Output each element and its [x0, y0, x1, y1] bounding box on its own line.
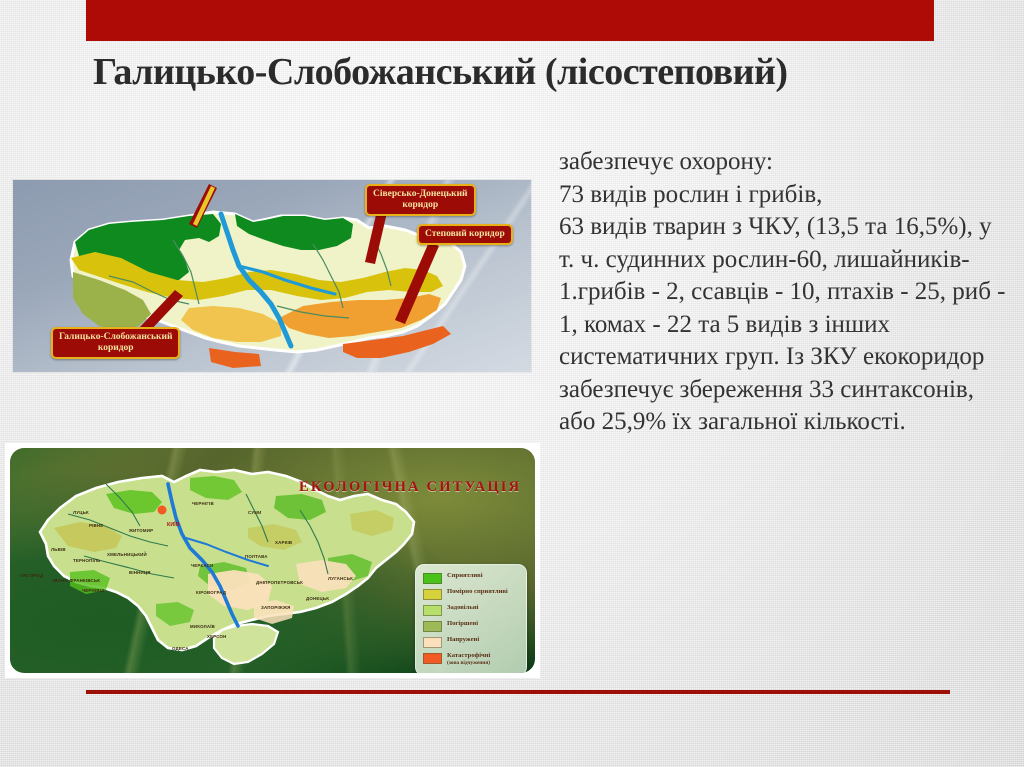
map-city-label: ЛУГАНСЬК: [328, 576, 353, 581]
map-city-label: ІВАНО-ФРАНКІВСЬК: [53, 578, 100, 583]
body-line-4: 1.грибів - 2, ссавців - 10, птахів - 25,…: [559, 276, 1011, 439]
body-text-block: забезпечує охорону: 73 видів рослин і гр…: [559, 146, 1011, 439]
legend-item: Помірно сприятливі: [423, 588, 520, 600]
page-title: Галицько-Слобожанський (лісостеповий): [93, 49, 993, 95]
legend-item: Катастрофічні(зона відчуження): [423, 652, 520, 667]
body-line-1: забезпечує охорону:: [559, 146, 1011, 179]
legend-item: Сприятливі: [423, 572, 520, 584]
map-city-label: ЖИТОМИР: [129, 528, 153, 533]
body-line-3: 63 видів тварин з ЧКУ, (13,5 та 16,5%), …: [559, 211, 1011, 276]
legend-swatch-strained: [423, 637, 442, 648]
legend-label: Сприятливі: [447, 572, 483, 580]
map-label-siversko-donetsky: Сіверсько-Донецький коридор: [365, 184, 476, 216]
header-accent-bar: [86, 0, 934, 41]
map-city-label: ЛЬВІВ: [51, 547, 66, 552]
legend-item: Погіршені: [423, 620, 520, 632]
map-ecology-legend: Сприятливі Помірно сприятливі Задовільні…: [415, 564, 527, 673]
map-city-label: ЧЕРНІГІВ: [192, 501, 214, 506]
legend-label: Погіршені: [447, 620, 478, 628]
body-line-2: 73 видів рослин і грибів,: [559, 179, 1011, 212]
map-city-label: ЧЕРНІВЦІ: [82, 588, 105, 593]
legend-swatch-satisfactory: [423, 605, 442, 616]
map-city-label: ПОЛТАВА: [245, 554, 268, 559]
map-ecology-title: ЕКОЛОГІЧНА СИТУАЦІЯ: [299, 479, 521, 496]
map-city-label: ЛУЦЬК: [73, 510, 89, 515]
map-city-label: СУМИ: [248, 510, 261, 515]
legend-label: Задовільні: [447, 604, 478, 612]
map-city-label: ТЕРНОПІЛЬ: [73, 558, 101, 563]
map-city-label: ДОНЕЦЬК: [306, 596, 329, 601]
map-city-label: ХЕРСОН: [207, 634, 227, 639]
legend-sublabel: (зона відчуження): [447, 660, 490, 668]
legend-swatch-catastrophic: [423, 653, 442, 664]
legend-swatch-moderately-favourable: [423, 589, 442, 600]
map-city-label: ЧЕРКАСИ: [191, 563, 213, 568]
legend-item: Задовільні: [423, 604, 520, 616]
map-city-label: КИЇВ: [167, 522, 180, 528]
map-city-label: РІВНЕ: [89, 523, 103, 528]
map-eco-corridors: Сіверсько-Донецький коридор Степовий кор…: [13, 180, 531, 372]
map-city-label: ДНІПРОПЕТРОВСЬК: [256, 580, 303, 585]
legend-label: Помірно сприятливі: [447, 588, 508, 596]
legend-item: Напружені: [423, 636, 520, 648]
map-city-label: УЖГОРОД: [20, 573, 43, 578]
legend-label: Напружені: [447, 636, 479, 644]
map-city-label: ХАРКІВ: [275, 540, 292, 545]
map-ecological-situation: ЕКОЛОГІЧНА СИТУАЦІЯ Сприятливі Помірно с…: [5, 443, 540, 678]
legend-label: Катастрофічні(зона відчуження): [447, 652, 490, 667]
slide-canvas: Галицько-Слобожанський (лісостеповий): [0, 0, 1024, 767]
map-label-halytsko-slobozhanskyi: Галицько-Слобожанський коридор: [51, 327, 180, 359]
map-label-stepovyi: Степовий коридор: [417, 224, 513, 245]
footer-rule: [86, 690, 950, 694]
legend-swatch-favourable: [423, 573, 442, 584]
map-city-label: ОДЕСА: [172, 646, 189, 651]
legend-swatch-degraded: [423, 621, 442, 632]
map-city-label: КІРОВОГРАД: [196, 590, 226, 595]
map-city-label: ЗАПОРІЖЖЯ: [261, 605, 290, 610]
map-city-label: ХМЕЛЬНИЦЬКИЙ: [107, 552, 147, 557]
map-city-label: ВІННИЦЯ: [129, 570, 151, 575]
map-city-label: МИКОЛАЇВ: [190, 624, 215, 629]
